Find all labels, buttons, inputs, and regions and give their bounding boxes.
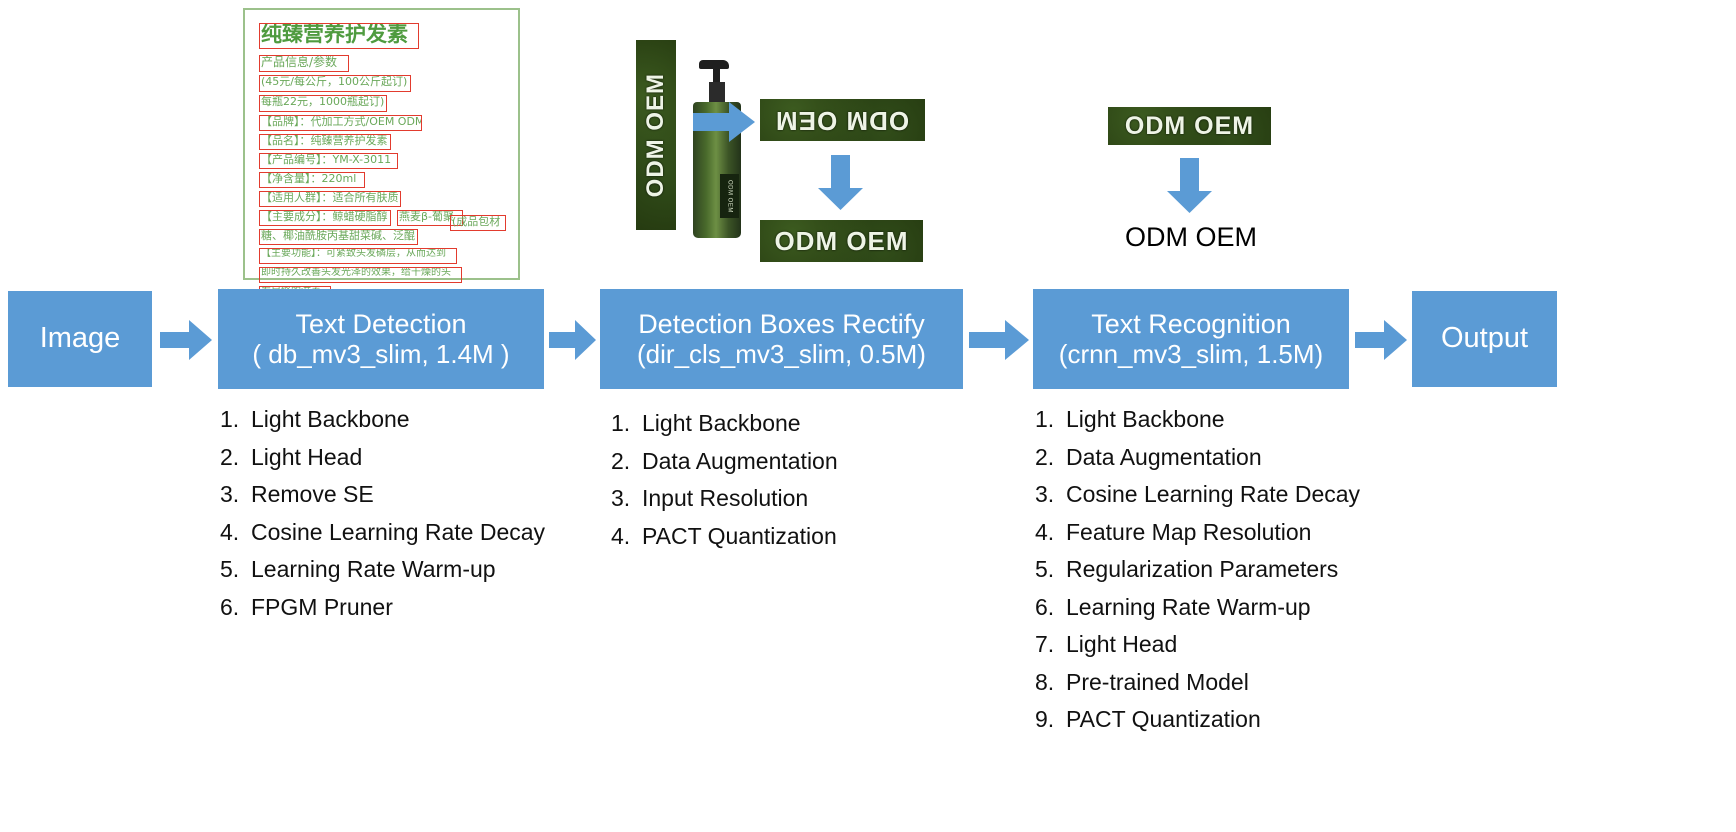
feature-list-item: 3.Cosine Learning Rate Decay — [1035, 483, 1435, 506]
feature-item-label: Cosine Learning Rate Decay — [1066, 483, 1360, 506]
feature-list-item: 4.PACT Quantization — [611, 525, 981, 548]
stage-title: Output — [1441, 322, 1528, 355]
feature-list-item: 2.Data Augmentation — [611, 450, 981, 473]
feature-item-label: Light Backbone — [642, 412, 801, 435]
ocr-text-box: 【主要成分】：鲸蜡硬脂醇 — [259, 210, 391, 226]
crop-corrected-odm-oem: ODM OEM — [760, 220, 923, 262]
stage-subtitle: ( db_mv3_slim, 1.4M ) — [252, 340, 509, 370]
stage-subtitle: (dir_cls_mv3_slim, 0.5M) — [637, 340, 926, 370]
ocr-text-box: 每瓶22元，1000瓶起订) — [259, 95, 387, 112]
feature-item-label: Learning Rate Warm-up — [1066, 596, 1311, 619]
feature-item-number: 1. — [1035, 408, 1066, 431]
feature-item-label: Regularization Parameters — [1066, 558, 1338, 581]
feature-list-item: 6.Learning Rate Warm-up — [1035, 596, 1435, 619]
feature-list-item: 3.Input Resolution — [611, 487, 981, 510]
stage-box-text-detection[interactable]: Text Detection ( db_mv3_slim, 1.4M ) — [218, 289, 544, 389]
recognized-text-result: ODM OEM — [1108, 222, 1274, 253]
arrow-rectify-down-icon — [818, 155, 863, 210]
ocr-text-box: 【主要功能】：可紧致头发磷层，从而达到 — [259, 248, 457, 264]
feature-item-label: PACT Quantization — [1066, 708, 1261, 731]
stage-title: Text Detection — [295, 309, 466, 340]
feature-item-number: 4. — [1035, 521, 1066, 544]
feature-item-label: Learning Rate Warm-up — [251, 558, 496, 581]
stage-subtitle: (crnn_mv3_slim, 1.5M) — [1059, 340, 1323, 370]
feature-list-item: 6.FPGM Pruner — [220, 596, 590, 619]
ocr-text-box: 【品牌】：代加工方式/OEM ODM — [259, 115, 422, 131]
ocr-text-box: (成品包材 — [450, 215, 506, 231]
feature-item-label: Data Augmentation — [642, 450, 838, 473]
feature-item-label: FPGM Pruner — [251, 596, 393, 619]
feature-item-number: 4. — [220, 521, 251, 544]
feature-item-label: Pre-trained Model — [1066, 671, 1249, 694]
feature-item-number: 8. — [1035, 671, 1066, 694]
feature-item-label: Light Backbone — [1066, 408, 1225, 431]
feature-item-label: Light Backbone — [251, 408, 410, 431]
feature-list-item: 4.Feature Map Resolution — [1035, 521, 1435, 544]
feature-item-number: 5. — [1035, 558, 1066, 581]
feature-list-item: 2.Light Head — [220, 446, 590, 469]
feature-item-number: 2. — [1035, 446, 1066, 469]
arrow-rectify-to-recognition-icon — [969, 320, 1029, 360]
stage-title: Detection Boxes Rectify — [638, 309, 925, 340]
crop-upside-down-odm-oem: ODM OEM — [760, 99, 925, 141]
feature-list-rectify: 1.Light Backbone2.Data Augmentation3.Inp… — [611, 412, 981, 562]
crop-input-to-recognition: ODM OEM — [1108, 107, 1271, 145]
shampoo-bottle-illustration: ODM OEM — [681, 60, 753, 238]
feature-list-item: 4.Cosine Learning Rate Decay — [220, 521, 590, 544]
ocr-text-box: 糖、椰油酰胺丙基甜菜碱、泛醌 — [259, 229, 418, 245]
stage-box-detection-boxes-rectify[interactable]: Detection Boxes Rectify (dir_cls_mv3_sli… — [600, 289, 963, 389]
crop-vertical-odm-oem: ODM OEM — [636, 40, 676, 230]
feature-item-label: Light Head — [251, 446, 362, 469]
stage-title: Text Recognition — [1091, 309, 1291, 340]
arrow-detection-to-rectify-icon — [549, 320, 596, 360]
feature-item-label: Cosine Learning Rate Decay — [251, 521, 545, 544]
feature-item-label: Data Augmentation — [1066, 446, 1262, 469]
feature-item-label: Feature Map Resolution — [1066, 521, 1311, 544]
arrow-recognition-to-output-icon — [1355, 320, 1407, 360]
feature-item-number: 9. — [1035, 708, 1066, 731]
ocr-text-box: 【适用人群】：适合所有肤质 — [259, 191, 401, 207]
stage-box-output[interactable]: Output — [1412, 291, 1557, 387]
arrow-rotate-right-icon — [693, 102, 755, 142]
feature-item-number: 6. — [1035, 596, 1066, 619]
arrow-recognize-down-icon — [1167, 158, 1212, 213]
feature-item-number: 1. — [611, 412, 642, 435]
feature-item-label: Remove SE — [251, 483, 374, 506]
stage-box-image[interactable]: Image — [8, 291, 152, 387]
feature-list-item: 9.PACT Quantization — [1035, 708, 1435, 731]
ocr-text-box: (45元/每公斤，100公斤起订) — [259, 75, 411, 92]
feature-item-number: 1. — [220, 408, 251, 431]
feature-item-number: 5. — [220, 558, 251, 581]
feature-item-number: 2. — [220, 446, 251, 469]
ocr-text-box: 【品名】：纯臻营养护发素 — [259, 134, 391, 150]
ocr-text-box: 即时持久改善头发光泽的效果，给干燥的头 — [259, 267, 462, 283]
feature-list-item: 7.Light Head — [1035, 633, 1435, 656]
feature-item-label: Light Head — [1066, 633, 1177, 656]
feature-list-detection: 1.Light Backbone2.Light Head3.Remove SE4… — [220, 408, 590, 633]
ocr-text-box: 【净含量】：220ml — [259, 172, 365, 188]
feature-list-item: 1.Light Backbone — [611, 412, 981, 435]
feature-item-number: 3. — [611, 487, 642, 510]
feature-item-number: 6. — [220, 596, 251, 619]
feature-list-item: 8.Pre-trained Model — [1035, 671, 1435, 694]
feature-item-number: 2. — [611, 450, 642, 473]
feature-item-number: 4. — [611, 525, 642, 548]
diagram-canvas: 纯臻营养护发素产品信息/参数(45元/每公斤，100公斤起订)每瓶22元，100… — [0, 0, 1736, 832]
feature-list-recognition: 1.Light Backbone2.Data Augmentation3.Cos… — [1035, 408, 1435, 746]
stage-box-text-recognition[interactable]: Text Recognition (crnn_mv3_slim, 1.5M) — [1033, 289, 1349, 389]
feature-list-item: 1.Light Backbone — [220, 408, 590, 431]
ocr-text-box: 纯臻营养护发素 — [259, 23, 419, 49]
ocr-text-box: 【产品编号】：YM-X-3011 — [259, 153, 398, 169]
feature-list-item: 3.Remove SE — [220, 483, 590, 506]
sample-image-thumbnail: 纯臻营养护发素产品信息/参数(45元/每公斤，100公斤起订)每瓶22元，100… — [243, 8, 520, 280]
feature-item-label: PACT Quantization — [642, 525, 837, 548]
arrow-image-to-detection-icon — [160, 320, 212, 360]
bottle-label-text: ODM OEM — [720, 174, 739, 218]
feature-list-item: 5.Regularization Parameters — [1035, 558, 1435, 581]
feature-item-label: Input Resolution — [642, 487, 808, 510]
feature-list-item: 5.Learning Rate Warm-up — [220, 558, 590, 581]
feature-item-number: 7. — [1035, 633, 1066, 656]
feature-list-item: 2.Data Augmentation — [1035, 446, 1435, 469]
stage-title: Image — [40, 322, 121, 355]
ocr-text-box: 产品信息/参数 — [259, 55, 349, 72]
feature-list-item: 1.Light Backbone — [1035, 408, 1435, 431]
feature-item-number: 3. — [1035, 483, 1066, 506]
feature-item-number: 3. — [220, 483, 251, 506]
